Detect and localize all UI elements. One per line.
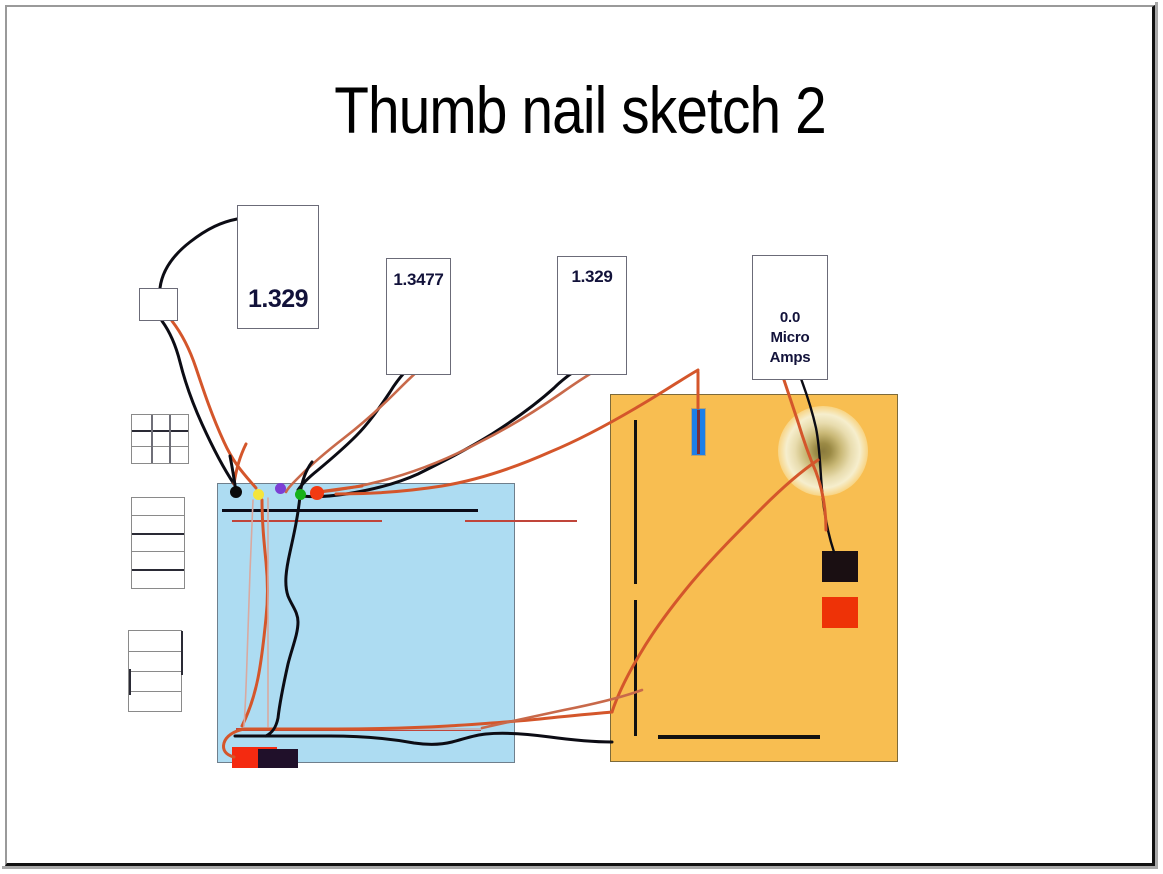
sketch-canvas: Thumb nail sketch 2 bbox=[0, 0, 1163, 874]
wire-black-to-meter2 bbox=[298, 363, 414, 490]
wire-black-board-descender bbox=[266, 496, 300, 736]
slide-canvas: Thumb nail sketch 2 bbox=[0, 0, 1163, 874]
probe-yellow[interactable] bbox=[253, 489, 264, 500]
wire-black-to-meter1 bbox=[160, 219, 237, 288]
probe-black[interactable] bbox=[230, 486, 242, 498]
wire-black-bottom-exit bbox=[235, 733, 612, 744]
wire-orange-left-hook bbox=[223, 729, 244, 757]
readout-box-meter-2[interactable]: 1.3477 bbox=[386, 258, 451, 375]
probe-purple[interactable] bbox=[275, 483, 286, 494]
readout-meter-3-value: 1.329 bbox=[558, 267, 626, 287]
wire-black-left-descender bbox=[162, 321, 234, 484]
readout-box-meter-3[interactable]: 1.329 bbox=[557, 256, 627, 375]
readout-current-block: 0.0 Micro Amps bbox=[753, 308, 827, 367]
wire-pink-board-descender bbox=[244, 500, 253, 726]
wire-orange-left-descender bbox=[172, 321, 256, 488]
readout-box-meter-1[interactable]: 1.329 bbox=[237, 205, 319, 329]
readout-box-blank[interactable] bbox=[139, 288, 178, 321]
readout-current-unit-2: Amps bbox=[753, 348, 827, 368]
wire-orange-board-to-blue bbox=[244, 712, 612, 729]
wire-orange-board-diagonal bbox=[612, 460, 818, 712]
readout-current-unit-1: Micro bbox=[753, 328, 827, 348]
wire-black-amps-descender bbox=[800, 376, 834, 552]
wire-orange-long-upper bbox=[336, 370, 698, 494]
probe-red[interactable] bbox=[310, 486, 324, 500]
readout-current-value: 0.0 bbox=[753, 308, 827, 328]
readout-meter-1-value: 1.329 bbox=[238, 285, 318, 314]
readout-meter-2-value: 1.3477 bbox=[387, 270, 450, 290]
wire-overlay bbox=[0, 0, 1163, 874]
wire-black-to-meter3 bbox=[302, 362, 592, 497]
readout-box-current[interactable]: 0.0 Micro Amps bbox=[752, 255, 828, 380]
probe-green[interactable] bbox=[295, 489, 306, 500]
